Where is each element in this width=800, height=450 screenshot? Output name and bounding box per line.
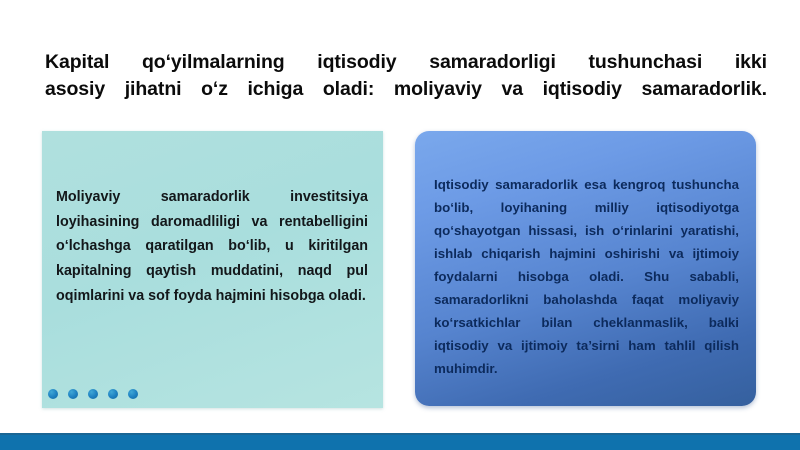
- dot-3: [88, 389, 98, 399]
- dot-1: [48, 389, 58, 399]
- dot-5: [128, 389, 138, 399]
- card-iqtisodiy-samaradorlik[interactable]: Iqtisodiy samaradorlik esa kengroq tushu…: [415, 131, 756, 406]
- page-title: Kapital qo‘yilmalarning iqtisodiy samara…: [45, 49, 767, 103]
- card-left-body-text: Moliyaviy samaradorlik investitsiya loyi…: [56, 185, 368, 308]
- card-moliyaviy-samaradorlik[interactable]: Moliyaviy samaradorlik investitsiya loyi…: [42, 131, 383, 408]
- card-right-body-text: Iqtisodiy samaradorlik esa kengroq tushu…: [434, 173, 739, 380]
- footer-bar: [0, 433, 800, 450]
- decorative-dots: [48, 389, 138, 399]
- footer-bar-accent-line: [0, 433, 800, 435]
- dot-2: [68, 389, 78, 399]
- dot-4: [108, 389, 118, 399]
- slide-canvas: Kapital qo‘yilmalarning iqtisodiy samara…: [0, 0, 800, 450]
